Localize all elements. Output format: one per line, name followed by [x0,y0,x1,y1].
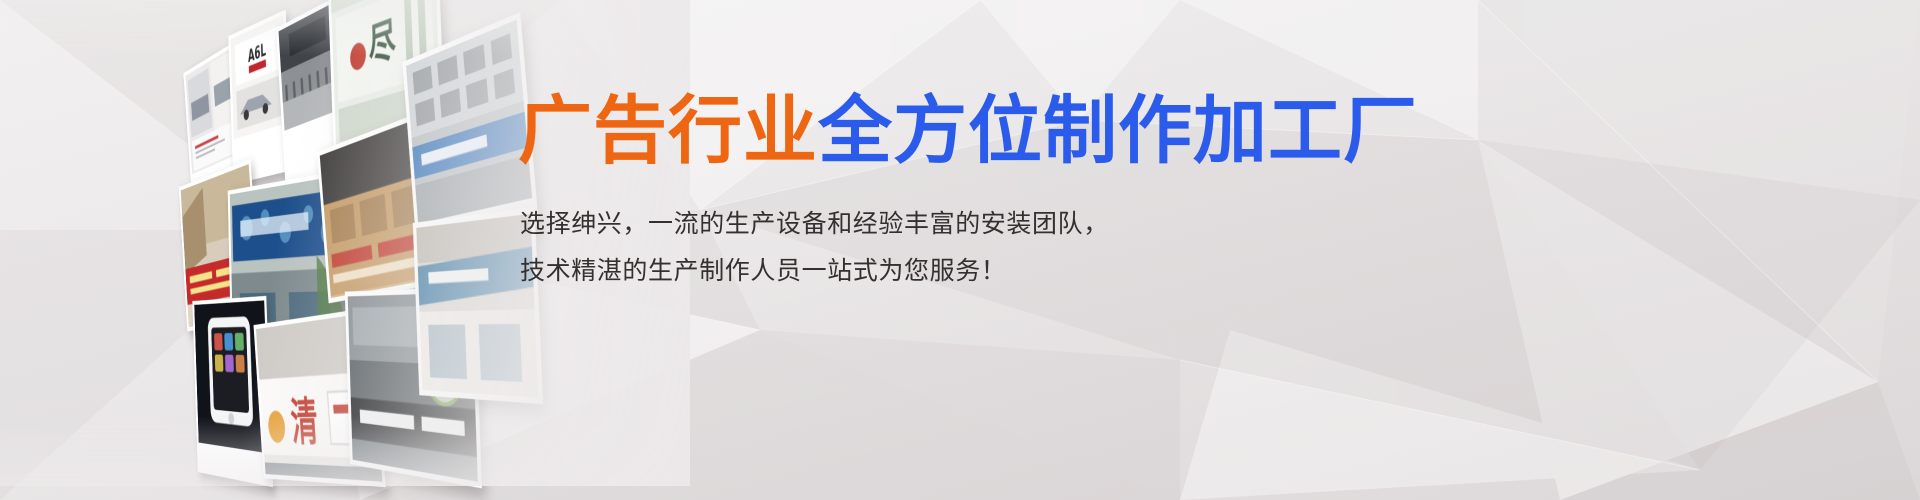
banner-headline: 广告行业全方位制作加工厂 [518,92,1418,170]
subheading-line-2: 技术精湛的生产制作人员一站式为您服务！ [520,247,1109,294]
svg-text:尽: 尽 [368,13,397,74]
svg-text:清: 清 [289,393,320,452]
promo-banner: A6L [0,0,1920,500]
banner-copy: 广告行业全方位制作加工厂 选择绅兴，一流的生产设备和经验丰富的安装团队， 技术精… [512,0,1632,500]
subheading-line-1: 选择绅兴，一流的生产设备和经验丰富的安装团队， [520,200,1109,247]
headline-part-orange: 广告行业 [518,88,818,174]
headline-part-blue: 全方位制作加工厂 [818,88,1418,174]
banner-subheading: 选择绅兴，一流的生产设备和经验丰富的安装团队， 技术精湛的生产制作人员一站式为您… [520,200,1109,294]
